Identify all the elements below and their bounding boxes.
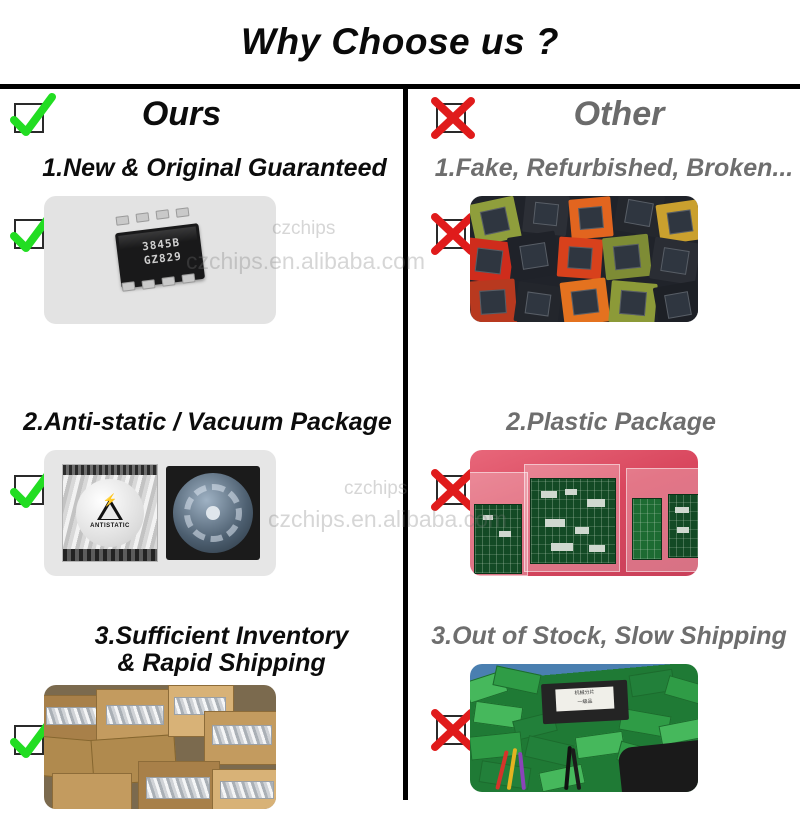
chip-die: [613, 244, 641, 270]
scrap-chip: [507, 231, 561, 282]
ours-column-header: Ours: [0, 89, 403, 151]
ours-row-1: 1.New & Original Guaranteed 3845B GZ829: [0, 151, 403, 409]
box: [52, 773, 132, 809]
antistatic-bag: ⚡ ANTISTATIC: [62, 464, 158, 562]
chip-pin: [182, 273, 196, 284]
scrap-chip: [649, 237, 698, 286]
ours-row-2: 2.Anti-static / Vacuum Package ⚡ ANTISTA…: [0, 409, 403, 621]
other-column: Other 1.Fake, Refurbished, Broken...: [408, 89, 800, 800]
chip-pin: [156, 209, 170, 220]
reel-disc: [173, 473, 253, 553]
chip-die: [624, 199, 653, 227]
other-row-2-label: 2.Plastic Package: [408, 409, 800, 436]
chip-die: [664, 291, 692, 318]
other-row-3: 3.Out of Stock, Slow Shipping: [408, 621, 800, 821]
smd-part: [499, 531, 511, 537]
chip-die: [567, 246, 593, 270]
pcb-board: [668, 494, 698, 558]
smd-part: [541, 491, 557, 498]
chip-die: [533, 202, 560, 227]
ours-label: Ours: [0, 95, 403, 134]
smd-part: [565, 489, 577, 495]
chip-die: [666, 209, 694, 235]
green-scrap-pile-photo: 机械分片 一级品: [470, 664, 698, 792]
cardboard-boxes-photo: [44, 685, 276, 809]
chip-pin: [122, 281, 136, 292]
chip-pin: [136, 212, 150, 223]
black-module: 机械分片 一级品: [541, 680, 629, 724]
smd-part: [551, 543, 573, 551]
smd-part: [545, 519, 565, 527]
ours-row-3: 3.Sufficient Inventory & Rapid Shipping: [0, 621, 403, 821]
scrap-chip: [608, 280, 657, 322]
other-row-1-label: 1.Fake, Refurbished, Broken...: [408, 151, 800, 182]
plastic-bag-pcb-photo: [470, 450, 698, 576]
warning-triangle-icon: ⚡: [97, 498, 123, 520]
antistatic-bag-stack: [46, 707, 100, 725]
ours-column: Ours 1.New & Original Guaranteed 3845B G…: [0, 89, 403, 800]
antistatic-label: ⚡ ANTISTATIC: [76, 479, 144, 547]
pcb-board: [530, 478, 616, 564]
chip-pin: [176, 207, 190, 218]
scrap-chip: [513, 281, 562, 322]
chip-pin: [116, 215, 130, 226]
chip-die: [475, 248, 503, 274]
antistatic-bag-photo: ⚡ ANTISTATIC: [44, 450, 276, 576]
chip-die: [524, 291, 552, 317]
other-row-1: 1.Fake, Refurbished, Broken...: [408, 151, 800, 409]
chip-die: [519, 242, 549, 271]
scrap-chip: [602, 234, 652, 281]
chip-pin: [162, 276, 176, 287]
scrap-chip: [568, 196, 613, 240]
chip-die: [480, 207, 510, 235]
smd-part: [589, 545, 605, 552]
why-choose-us-infographic: Why Choose us ? Ours 1.New & Original Gu…: [0, 0, 800, 800]
chip-die: [479, 289, 506, 315]
antistatic-bag-stack: [212, 725, 272, 745]
scrap-chip: [470, 278, 517, 322]
other-label: Other: [408, 95, 800, 134]
black-housing: [617, 740, 698, 792]
module-label-line-2: 一级品: [556, 695, 614, 707]
antistatic-bag-stack: [220, 781, 274, 799]
scrap-chip: [522, 196, 570, 236]
scrap-cpus-photo: [470, 196, 698, 322]
ours-row-1-label: 1.New & Original Guaranteed: [0, 151, 403, 182]
antistatic-bag-stack: [146, 777, 210, 799]
scrap-chip: [557, 237, 604, 280]
smd-part: [483, 515, 493, 520]
smd-part: [675, 507, 689, 513]
other-column-header: Other: [408, 89, 800, 151]
smd-part: [677, 527, 689, 533]
reel-hub: [206, 506, 220, 520]
ic-chip-photo: 3845B GZ829: [44, 196, 276, 324]
pcb-board: [632, 498, 662, 560]
chip-die: [578, 206, 603, 230]
component-reel: [166, 466, 260, 560]
lightning-bolt-icon: ⚡: [103, 494, 118, 506]
antistatic-bag-stack: [106, 705, 164, 725]
smd-part: [575, 527, 589, 534]
other-row-3-label: 3.Out of Stock, Slow Shipping: [408, 621, 800, 650]
scrap-chip: [653, 280, 698, 322]
chip-pin: [142, 279, 156, 290]
scrap-chip: [559, 277, 610, 322]
other-row-2: 2.Plastic Package: [408, 409, 800, 621]
page-title: Why Choose us ?: [241, 21, 559, 63]
ours-row-2-label: 2.Anti-static / Vacuum Package: [0, 409, 403, 436]
page-title-bar: Why Choose us ?: [0, 0, 800, 84]
antistatic-caption: ANTISTATIC: [90, 523, 130, 529]
smd-part: [587, 499, 605, 507]
chip-die: [619, 290, 647, 316]
pcb-shard: [664, 675, 698, 705]
chip-die: [660, 247, 689, 274]
module-label: 机械分片 一级品: [555, 687, 614, 712]
chip-die: [571, 288, 600, 316]
ours-row-3-label: 3.Sufficient Inventory & Rapid Shipping: [0, 621, 403, 677]
pcb-board: [474, 504, 522, 574]
